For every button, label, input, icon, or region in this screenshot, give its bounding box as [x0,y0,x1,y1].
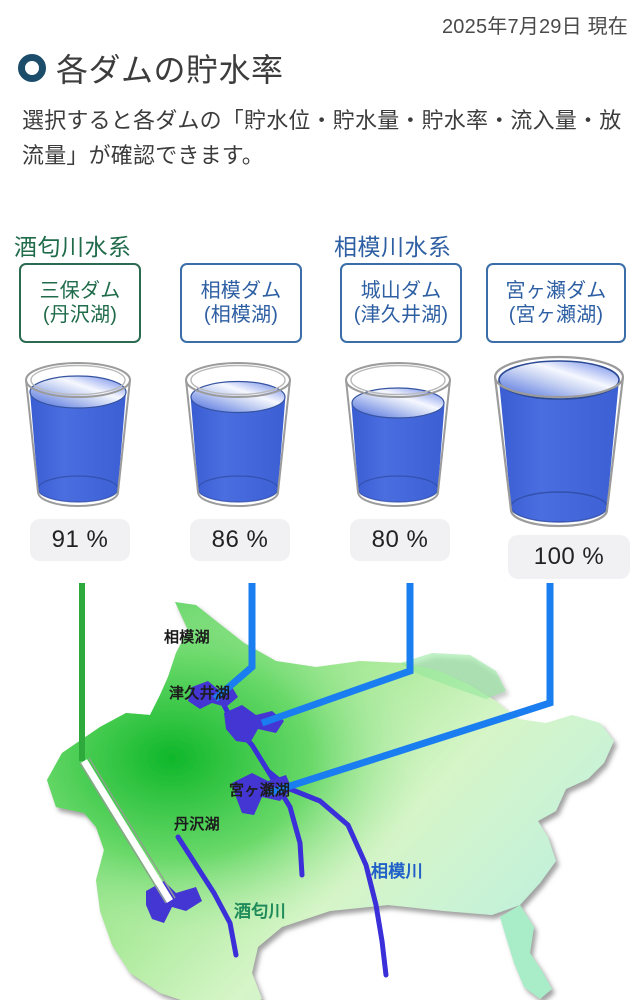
percent-badge-shiroyama: 80 % [350,519,450,561]
dam-button-shiroyama[interactable]: 城山ダム (津久井湖) [340,263,462,343]
map-label-tsukuiko: 津久井湖 [169,682,230,703]
map-label-sakawagawa: 酒匂川 [234,897,286,922]
tank-gauge-shiroyama[interactable] [334,360,462,515]
prefecture-shape [47,602,614,1000]
map-label-sagamigawa: 相模川 [371,857,423,882]
map-label-tanzawako: 丹沢湖 [174,813,220,834]
dam-lake-name: (丹沢湖) [43,303,117,327]
percent-badge-miho: 91 % [30,519,130,561]
dam-button-miyagase[interactable]: 宮ヶ瀬ダム (宮ヶ瀬湖) [486,263,626,343]
dam-name: 宮ヶ瀬ダム [506,279,607,303]
page-title: 各ダムの貯水率 [56,45,284,91]
dam-reservoir-rate-page: 2025年7月29日 現在 各ダムの貯水率 選択すると各ダムの「貯水位・貯水量・… [0,0,642,1000]
dam-name: 城山ダム [361,279,442,303]
tank-gauge-miho[interactable] [14,360,142,515]
tank-gauge-miyagase[interactable] [484,355,634,535]
page-title-row: 各ダムの貯水率 [18,45,284,91]
tank-gauge-sagami[interactable] [174,360,302,515]
percent-badge-sagami: 86 % [190,519,290,561]
dam-name: 三保ダム [40,279,121,303]
dam-button-miho[interactable]: 三保ダム (丹沢湖) [19,263,141,343]
ring-icon [18,54,46,82]
map-label-sagamiko: 相模湖 [164,626,210,647]
percent-badge-miyagase: 100 % [508,535,630,579]
system-label-sakawa: 酒匂川水系 [14,228,132,262]
dam-lake-name: (津久井湖) [354,303,449,327]
dam-name: 相模ダム [201,279,282,303]
dam-button-sagami[interactable]: 相模ダム (相模湖) [180,263,302,343]
as-of-date: 2025年7月29日 現在 [442,10,628,39]
dam-lake-name: (相模湖) [204,303,278,327]
page-description: 選択すると各ダムの「貯水位・貯水量・貯水率・流入量・放流量」が確認できます。 [22,104,628,174]
kanagawa-map [0,575,642,1000]
dam-lake-name: (宮ヶ瀬湖) [509,303,604,327]
system-label-sagami: 相模川水系 [334,228,452,262]
map-label-miyagaseko: 宮ヶ瀬湖 [229,779,290,800]
